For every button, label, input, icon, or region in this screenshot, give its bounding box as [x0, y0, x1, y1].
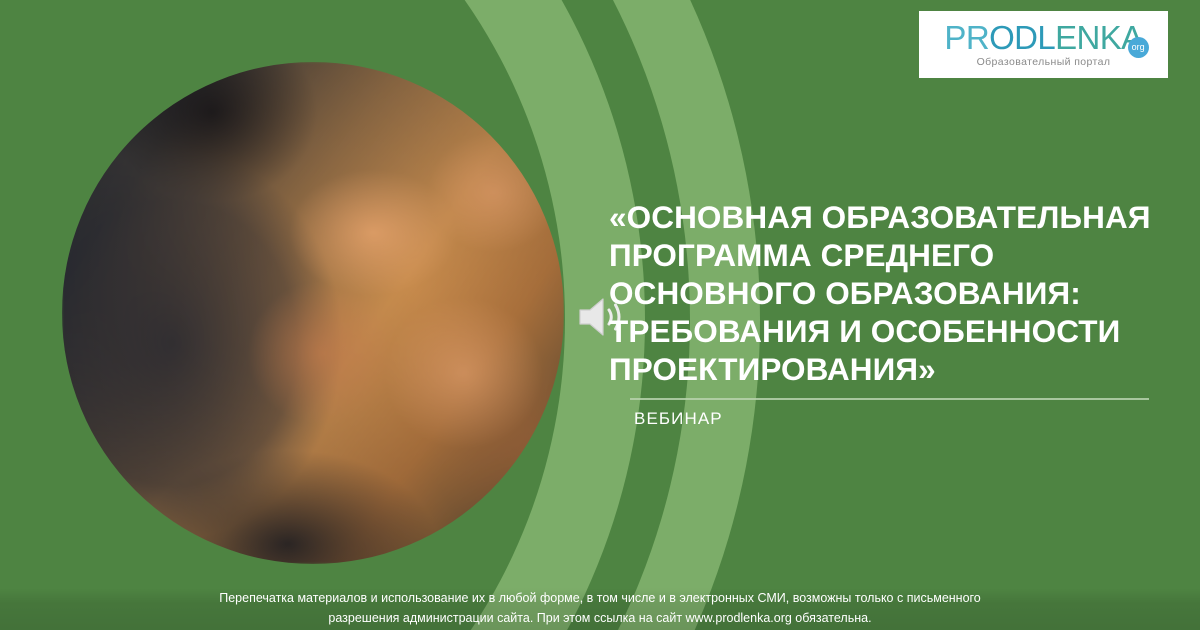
logo-tagline: Образовательный портал: [977, 56, 1111, 68]
disclaimer-line-2: разрешения администрации сайта. При этом…: [120, 608, 1080, 628]
title-divider: [630, 398, 1149, 400]
page-title: «ОСНОВНАЯ ОБРАЗОВАТЕЛЬНАЯ ПРОГРАММА СРЕД…: [609, 198, 1169, 388]
photo-warm-overlay: [62, 62, 564, 564]
presentation-slide: «ОСНОВНАЯ ОБРАЗОВАТЕЛЬНАЯ ПРОГРАММА СРЕД…: [0, 0, 1200, 630]
title-block: «ОСНОВНАЯ ОБРАЗОВАТЕЛЬНАЯ ПРОГРАММА СРЕД…: [609, 198, 1169, 429]
logo-word-part2: ODL: [989, 19, 1055, 56]
logo-word-part1: PR: [944, 19, 989, 56]
prodlenka-logo[interactable]: PRODLENKAorg Образовательный портал: [919, 11, 1168, 78]
lecture-photo-circle: [62, 62, 564, 564]
disclaimer-line-1: Перепечатка материалов и использование и…: [120, 588, 1080, 608]
slide-subtitle: ВЕБИНАР: [634, 409, 1169, 429]
logo-org-badge: org: [1128, 37, 1149, 58]
logo-wordmark: PRODLENKAorg: [944, 21, 1142, 55]
copyright-disclaimer: Перепечатка материалов и использование и…: [0, 588, 1200, 630]
